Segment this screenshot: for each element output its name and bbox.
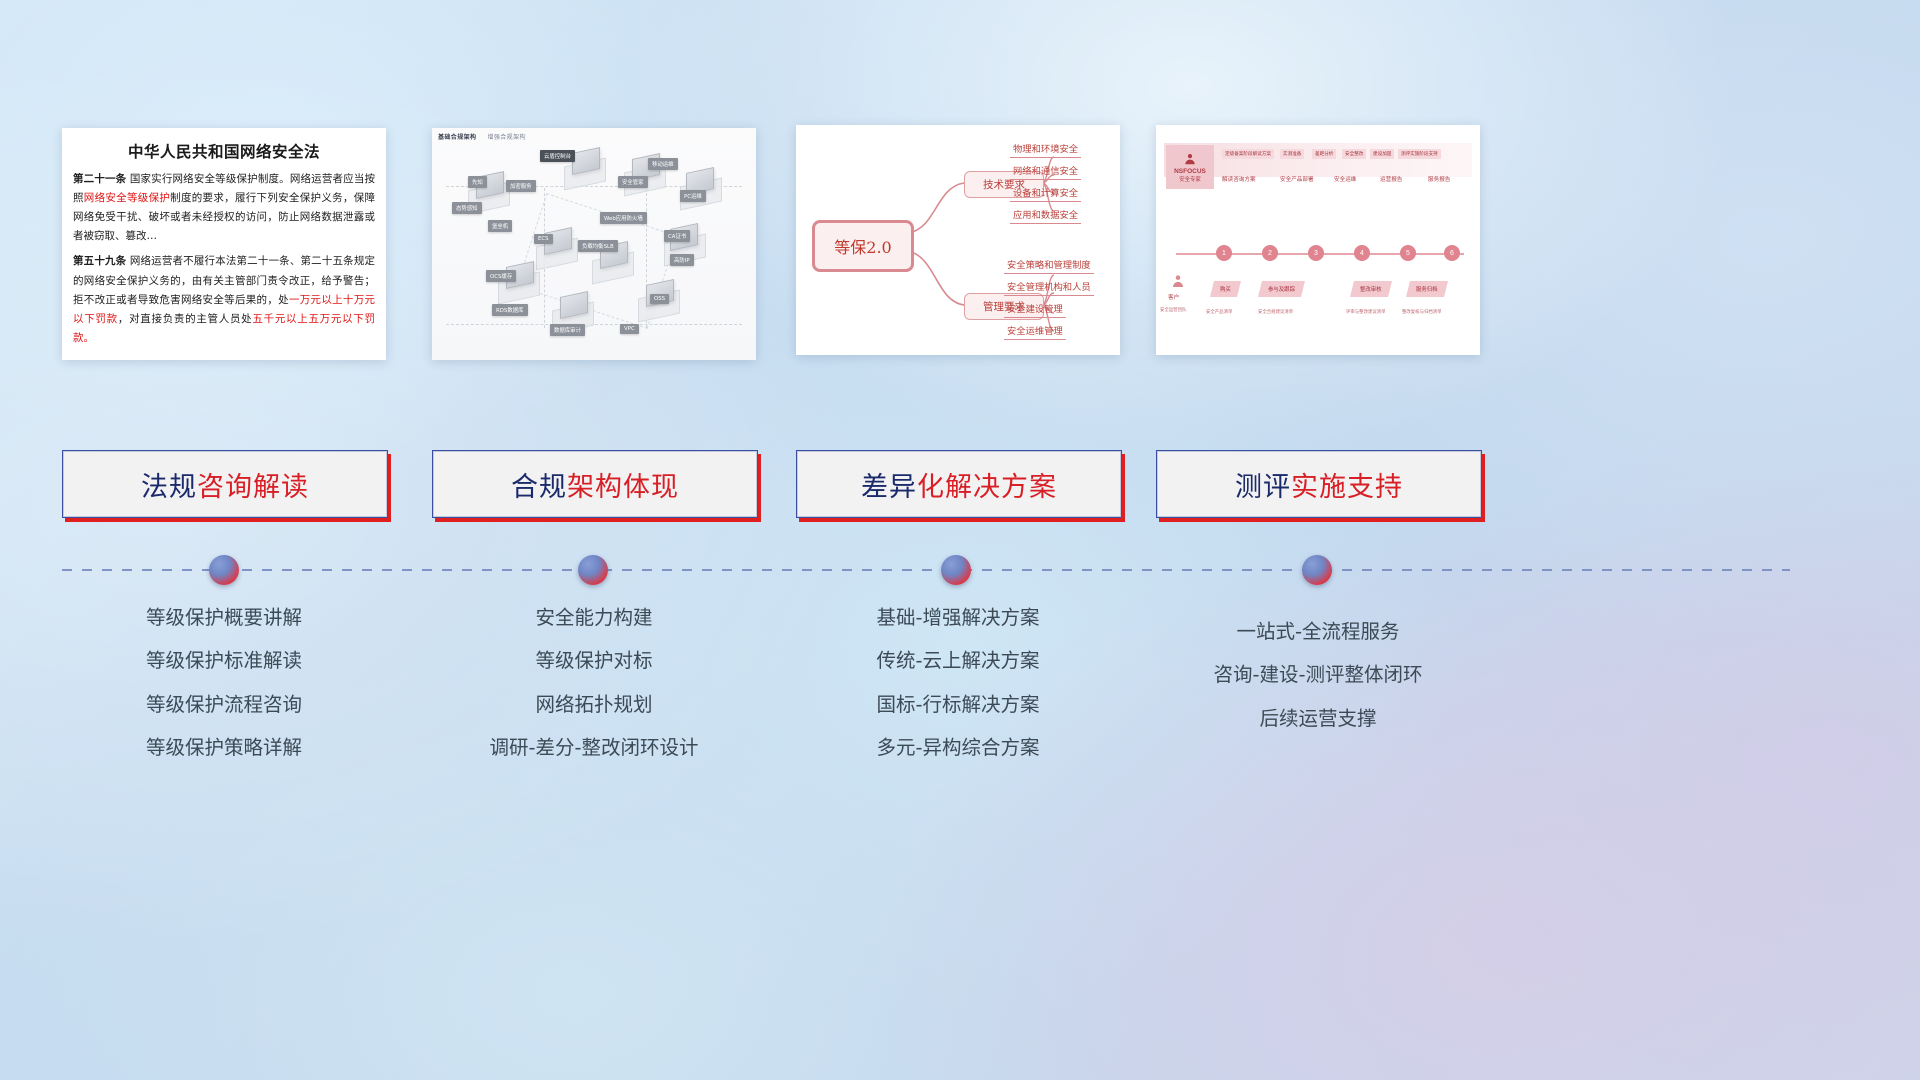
nsfocus-sub-note: 评审与整改建议清单 [1346, 309, 1386, 315]
nsfocus-top-chip: 定级备案阶段解读方案 [1222, 149, 1274, 159]
nsfocus-diagram: NSFOCUS 安全专家 定级备案阶段解读方案 实测准备 差距分析 安全整改 建… [1156, 125, 1480, 355]
article-59-label: 第五十九条 [73, 255, 126, 267]
nsfocus-customer-label: 客户 [1168, 293, 1179, 301]
list-item: 多元-异构综合方案 [796, 736, 1120, 760]
nsfocus-tag: 服务归档 [1406, 281, 1448, 297]
arch-node: 云盾控制台 [540, 150, 575, 162]
nsfocus-brand: NSFOCUS [1174, 168, 1206, 175]
list-item: 传统-云上解决方案 [796, 649, 1120, 673]
nsfocus-top-chip: 建设加固 [1370, 149, 1394, 159]
nsfocus-brand-block: NSFOCUS 安全专家 [1166, 145, 1214, 189]
architecture-diagram: 基础合规架构 增强合规架构 [432, 128, 756, 360]
list-item: 安全能力构建 [432, 606, 756, 630]
heading-1-red: 咨询解读 [197, 472, 309, 503]
nsfocus-customer-icon [1170, 273, 1186, 294]
nsfocus-row-label: 服务报告 [1428, 175, 1450, 183]
arch-guide-line [446, 324, 742, 325]
arch-node: 高防IP [670, 254, 694, 266]
arch-node: OCS缓存 [486, 270, 516, 282]
list-item: 一站式-全流程服务 [1156, 620, 1480, 644]
arch-node: 先知 [468, 176, 487, 188]
nsfocus-row-label: 安全运维 [1334, 175, 1356, 183]
list-item: 咨询-建设-测评整体闭环 [1156, 663, 1480, 687]
timeline-dot-4[interactable] [1302, 555, 1332, 585]
mindmap-leaf: 设备和计算安全 [1010, 185, 1081, 202]
heading-3-red: 化解决方案 [917, 472, 1057, 503]
card-law-text: 中华人民共和国网络安全法 第二十一条 国家实行网络安全等级保护制度。网络运营者应… [62, 128, 386, 360]
article-21-label: 第二十一条 [73, 173, 126, 185]
nsfocus-tag-text: 整改审核 [1360, 285, 1382, 293]
nsfocus-tag-text: 购买 [1220, 285, 1231, 293]
arch-node: 数据库审计 [550, 324, 585, 336]
heading-4-red: 实施支持 [1291, 472, 1403, 503]
mindmap-leaf: 安全运维管理 [1004, 323, 1066, 340]
person-icon [1183, 152, 1197, 166]
arch-node: VPC [620, 324, 639, 334]
list-item: 后续运营支撑 [1156, 707, 1480, 731]
arch-node: 堡垒机 [488, 220, 512, 232]
timeline-dot-1[interactable] [209, 555, 239, 585]
heading-2-red: 架构体现 [567, 472, 679, 503]
section-items-4: 一站式-全流程服务 咨询-建设-测评整体闭环 后续运营支撑 [1156, 620, 1480, 750]
timeline-dot-3[interactable] [941, 555, 971, 585]
list-item: 调研-差分-整改闭环设计 [432, 736, 756, 760]
heading-2-text: 合规架构体现 [511, 465, 679, 504]
heading-1-text: 法规咨询解读 [141, 465, 309, 504]
law-article-59: 第五十九条 网络运营者不履行本法第二十一条、第二十五条规定的网络安全保护义务的，… [73, 252, 375, 348]
timeline-dot-2[interactable] [578, 555, 608, 585]
nsfocus-top-chip: 安全整改 [1342, 149, 1366, 159]
nsfocus-row-label: 安全产品部署 [1280, 175, 1314, 183]
article-59-part2: ，对直接负责的主管人员处 [118, 313, 253, 325]
arch-tab-basic: 基础合规架构 [438, 135, 476, 141]
section-heading-1[interactable]: 法规咨询解读 [62, 450, 388, 518]
arch-node: OSS [650, 294, 669, 304]
nsfocus-tag: 参与及跟踪 [1258, 281, 1305, 297]
nsfocus-step-dot: 6 [1444, 245, 1460, 261]
nsfocus-tag-text: 参与及跟踪 [1268, 285, 1295, 293]
mindmap-leaf: 安全建设管理 [1004, 301, 1066, 318]
list-item: 基础-增强解决方案 [796, 606, 1120, 630]
mindmap-diagram: 等保2.0 技术要求 管理要求 物理和环境安全 网络和通信安全 设备和计算安全 … [796, 125, 1120, 355]
nsfocus-step-dot: 4 [1354, 245, 1370, 261]
law-body: 第二十一条 国家实行网络安全等级保护制度。网络运营者应当按照网络安全等级保护制度… [62, 170, 386, 348]
law-article-21: 第二十一条 国家实行网络安全等级保护制度。网络运营者应当按照网络安全等级保护制度… [73, 170, 375, 246]
arch-node: ECS [534, 234, 553, 244]
heading-4-text: 测评实施支持 [1235, 465, 1403, 504]
section-items-3: 基础-增强解决方案 传统-云上解决方案 国标-行标解决方案 多元-异构综合方案 [796, 606, 1120, 780]
arch-node: 负载均衡SLB [578, 240, 618, 252]
section-items-1: 等级保护概要讲解 等级保护标准解读 等级保护流程咨询 等级保护策略详解 [62, 606, 386, 780]
nsfocus-sub-note: 整改复核与归档清单 [1402, 309, 1442, 315]
arch-node: CA证书 [664, 230, 690, 242]
nsfocus-top-chip: 测评实施阶段支持 [1398, 149, 1441, 159]
architecture-tabs: 基础合规架构 增强合规架构 [438, 132, 535, 141]
heading-3-text: 差异化解决方案 [861, 465, 1057, 504]
heading-2-blue: 合规 [511, 472, 567, 503]
arch-node: PC运维 [680, 190, 706, 202]
arch-node: 移动运维 [648, 158, 678, 170]
list-item: 等级保护策略详解 [62, 736, 386, 760]
nsfocus-step-dot: 3 [1308, 245, 1324, 261]
mindmap-leaf: 安全管理机构和人员 [1004, 279, 1094, 296]
nsfocus-tag: 整改审核 [1350, 281, 1392, 297]
arch-node: 加密服务 [506, 180, 536, 192]
nsfocus-top-chip: 实测准备 [1280, 149, 1304, 159]
nsfocus-sub-note: 安全产品清单 [1206, 309, 1232, 315]
section-heading-3[interactable]: 差异化解决方案 [796, 450, 1122, 518]
mindmap-root-node: 等保2.0 [812, 220, 914, 272]
arch-node: Web应用防火墙 [600, 212, 647, 224]
card-cloud-architecture: 基础合规架构 增强合规架构 [432, 128, 756, 360]
heading-1-blue: 法规 [141, 472, 197, 503]
mindmap-leaf: 安全策略和管理制度 [1004, 257, 1094, 274]
heading-4-blue: 测评 [1235, 472, 1291, 503]
section-items-2: 安全能力构建 等级保护对标 网络拓扑规划 调研-差分-整改闭环设计 [432, 606, 756, 780]
list-item: 网络拓扑规划 [432, 693, 756, 717]
timeline-track [62, 569, 1790, 571]
heading-3-blue: 差异 [861, 472, 917, 503]
mindmap-leaf: 网络和通信安全 [1010, 163, 1081, 180]
nsfocus-row-label: 解读咨询方案 [1222, 175, 1256, 183]
nsfocus-step-dot: 2 [1262, 245, 1278, 261]
article-21-highlight: 网络安全等级保护 [84, 192, 170, 204]
section-heading-4[interactable]: 测评实施支持 [1156, 450, 1482, 518]
list-item: 国标-行标解决方案 [796, 693, 1120, 717]
nsfocus-step-dot: 5 [1400, 245, 1416, 261]
list-item: 等级保护流程咨询 [62, 693, 386, 717]
list-item: 等级保护对标 [432, 649, 756, 673]
nsfocus-brand-sub: 安全专家 [1179, 175, 1201, 183]
section-heading-2[interactable]: 合规架构体现 [432, 450, 758, 518]
arch-tab-enhanced: 增强合规架构 [487, 135, 525, 141]
nsfocus-tag-text: 服务归档 [1416, 285, 1438, 293]
card-mindmap: 等保2.0 技术要求 管理要求 物理和环境安全 网络和通信安全 设备和计算安全 … [796, 125, 1120, 355]
list-item: 等级保护概要讲解 [62, 606, 386, 630]
arch-node: 态势感知 [452, 202, 482, 214]
nsfocus-sub-note: 安全合规建议清单 [1258, 309, 1293, 315]
slide-content: 中华人民共和国网络安全法 第二十一条 国家实行网络安全等级保护制度。网络运营者应… [0, 0, 1920, 1080]
nsfocus-tag: 购买 [1210, 281, 1241, 297]
nsfocus-row-label: 运营报告 [1380, 175, 1402, 183]
arch-node: RDS数据库 [492, 304, 528, 316]
card-service-timeline: NSFOCUS 安全专家 定级备案阶段解读方案 实测准备 差距分析 安全整改 建… [1156, 125, 1480, 355]
mindmap-leaf: 物理和环境安全 [1010, 141, 1081, 158]
list-item: 等级保护标准解读 [62, 649, 386, 673]
law-title: 中华人民共和国网络安全法 [62, 140, 386, 162]
mindmap-leaf: 应用和数据安全 [1010, 207, 1081, 224]
nsfocus-top-chip: 差距分析 [1312, 149, 1336, 159]
arch-node: 安全管家 [618, 176, 648, 188]
nsfocus-customer-sub: 安全运营团队 [1160, 307, 1186, 313]
nsfocus-step-dot: 1 [1216, 245, 1232, 261]
